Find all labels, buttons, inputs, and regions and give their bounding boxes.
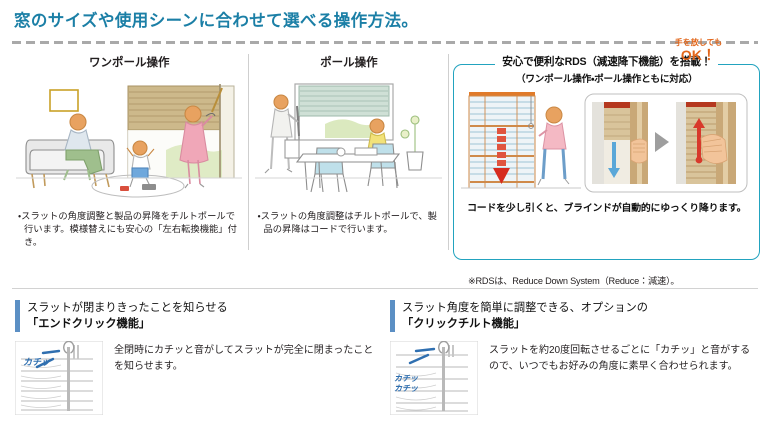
click-sound-label: カチッ — [394, 384, 419, 393]
click-sound-label: カチッ — [23, 357, 51, 367]
feature-end-click-description: 全閉時にカチッと音がしてスラットが完全に閉まったことを知らせます。 — [114, 341, 380, 374]
hands-free-callout-line2: OK！ — [650, 48, 746, 62]
accent-bar — [15, 300, 20, 332]
feature-click-tilt-name: 「クリックチルト機能」 — [402, 316, 648, 332]
column-pole: ポール操作 — [249, 52, 448, 266]
rds-footnote: ※RDSは、Reduce Down System（Reduce：減速）。 — [468, 273, 679, 287]
dashed-divider — [12, 41, 758, 44]
column-divider-2 — [448, 54, 449, 250]
feature-end-click-body: カチッ 全閉時にカチッと音がしてスラットが完全に閉まったことを知らせます。 — [15, 341, 380, 415]
column-one-pole: ワンポール操作 — [10, 52, 248, 266]
rds-panel: 安心で便利なRDS（減速降下機能）を搭載！ （ワンポール操作・ポール操作ともに対… — [453, 64, 760, 260]
page-header: 窓のサイズや使用シーンに合わせて選べる操作方法。 — [0, 0, 770, 32]
hands-free-callout: 手を放しても OK！ — [650, 39, 746, 62]
features-row: スラットが閉まりきったことを知らせる 「エンドクリック機能」 — [10, 300, 760, 415]
feature-click-tilt-header: スラット角度を簡単に調整できる、オプションの 「クリックチルト機能」 — [390, 300, 755, 332]
feature-click-tilt-lead: スラット角度を簡単に調整できる、オプションの — [402, 302, 648, 314]
feature-end-click-header: スラットが閉まりきったことを知らせる 「エンドクリック機能」 — [15, 300, 380, 332]
column-heading-one-pole: ワンポール操作 — [16, 52, 242, 76]
rds-caption: コードを少し引くと、ブラインドが自動的にゆっくり降ります。 — [454, 200, 759, 214]
click-sound-label: カチッ — [394, 374, 419, 383]
column-heading-pole: ポール操作 — [255, 52, 442, 76]
rds-subhead: （ワンポール操作・ポール操作ともに対応） — [454, 71, 759, 85]
feature-click-tilt-body: カチッ カチッ スラットを約20度回転させるごとに「カチッ」と音がするので、いつ… — [390, 341, 755, 415]
click-tilt-thumbnail: カチッ カチッ — [390, 341, 478, 415]
feature-end-click: スラットが閉まりきったことを知らせる 「エンドクリック機能」 — [10, 300, 385, 415]
end-click-thumbnail: カチッ — [15, 341, 103, 415]
accent-bar — [390, 300, 395, 332]
operation-methods-row: ワンポール操作 — [10, 52, 760, 266]
rds-illustrations — [454, 88, 759, 198]
feature-click-tilt-description: スラットを約20度回転させるごとに「カチッ」と音がするので、いつでもお好みの角度… — [489, 341, 755, 374]
feature-end-click-lead: スラットが閉まりきったことを知らせる — [27, 302, 228, 314]
feature-click-tilt: スラット角度を簡単に調整できる、オプションの 「クリックチルト機能」 — [385, 300, 760, 415]
column-note-pole: ・スラットの角度調整はチルトポールで、製品の昇降はコードで行います。 — [255, 210, 442, 236]
column-note-one-pole: ・スラットの角度調整と製品の昇降をチルトポールで行います。模様替えにも安心の「左… — [16, 210, 242, 250]
product-feature-sheet: 窓のサイズや使用シーンに合わせて選べる操作方法。 ワンポール操作 — [0, 0, 770, 441]
living-room-one-pole-illustration — [16, 78, 242, 202]
feature-end-click-title: スラットが閉まりきったことを知らせる 「エンドクリック機能」 — [27, 300, 228, 332]
rds-blind-descend-illustration — [461, 88, 581, 198]
hands-free-callout-line1: 手を放しても — [650, 39, 746, 47]
feature-click-tilt-title: スラット角度を簡単に調整できる、オプションの 「クリックチルト機能」 — [402, 300, 648, 332]
office-pole-operation-illustration — [255, 78, 442, 202]
page-title: 窓のサイズや使用シーンに合わせて選べる操作方法。 — [14, 12, 770, 32]
section-divider — [12, 288, 758, 289]
rds-photo-pair — [583, 88, 749, 198]
feature-end-click-name: 「エンドクリック機能」 — [27, 316, 228, 332]
